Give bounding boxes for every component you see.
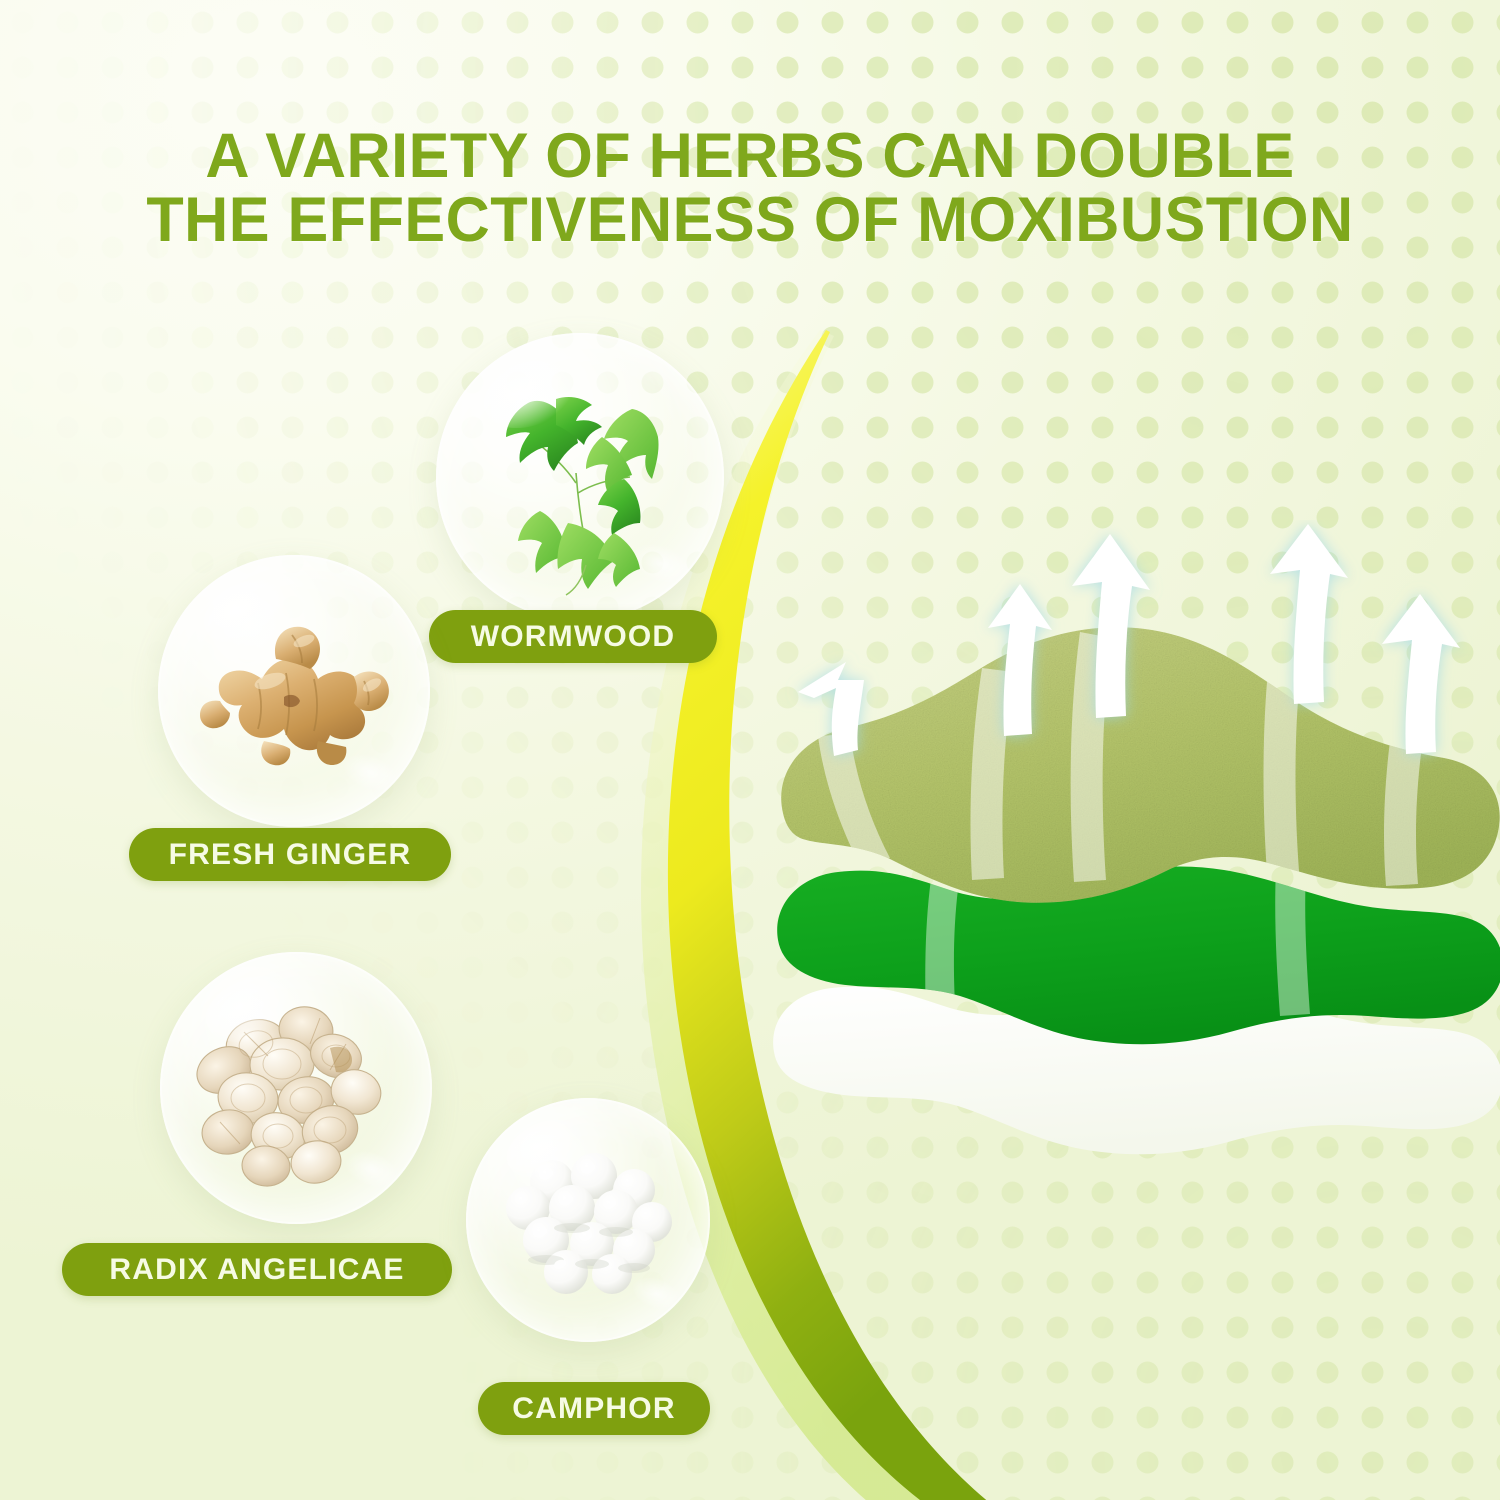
ginger-root-icon [158,555,430,827]
title-line-2: THE EFFECTIVENESS OF MOXIBUSTION [23,188,1478,252]
herb-label-fresh-ginger: FRESH GINGER [129,828,451,881]
root-slices-icon [160,952,432,1224]
herb-label-text: FRESH GINGER [169,838,412,872]
herb-label-camphor: CAMPHOR [478,1382,710,1435]
page-title: A VARIETY OF HERBS CAN DOUBLE THE EFFECT… [23,124,1478,253]
herb-bubble-fresh-ginger [158,555,430,827]
patch-layer-white [773,983,1500,1155]
herb-bubble-camphor [466,1098,710,1342]
patch-layer-green [777,867,1500,1045]
heat-release-arrow-icon [798,524,1460,756]
herb-label-text: CAMPHOR [512,1392,675,1426]
herb-label-text: RADIX ANGELICAE [109,1253,404,1287]
layered-moxibustion-patch [760,520,1500,1160]
herb-label-text: WORMWOOD [471,620,676,654]
patch-layer-herb [781,627,1500,903]
herb-bubble-radix-angelicae [160,952,432,1224]
herb-label-wormwood: WORMWOOD [429,610,717,663]
herb-bubble-wormwood [436,333,724,621]
title-line-1: A VARIETY OF HERBS CAN DOUBLE [23,124,1478,188]
camphor-balls-icon [466,1098,710,1342]
herb-label-radix-angelicae: RADIX ANGELICAE [62,1243,452,1296]
infographic-poster: A VARIETY OF HERBS CAN DOUBLE THE EFFECT… [0,0,1500,1500]
wormwood-leaf-icon [436,333,724,621]
